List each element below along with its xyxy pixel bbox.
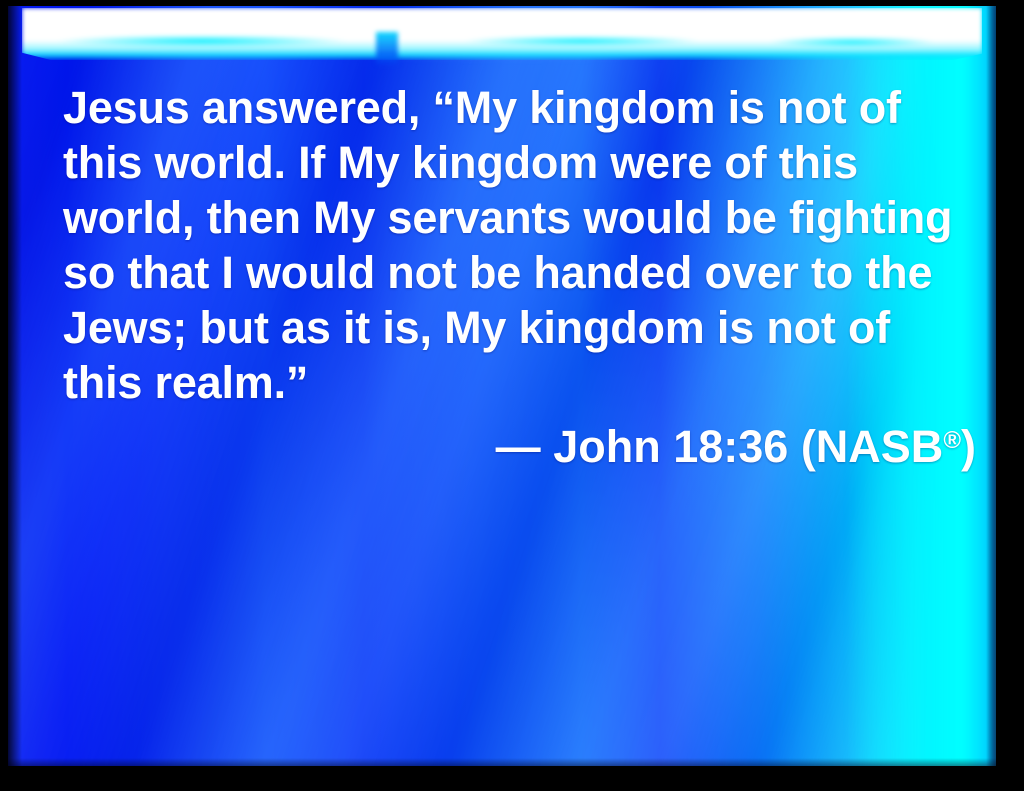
verse-line: Jews; but as it is, My kingdom is not of (63, 300, 975, 355)
verse-line: Jesus answered, “My kingdom is not of (63, 80, 975, 135)
verse-slide: Jesus answered, “My kingdom is not of th… (0, 0, 1024, 791)
verse-line: this world. If My kingdom were of this (63, 135, 975, 190)
slide-panel: Jesus answered, “My kingdom is not of th… (8, 6, 996, 766)
verse-line: world, then My servants would be fightin… (63, 190, 975, 245)
top-banner-glow (22, 8, 982, 60)
attribution-dash: — (496, 421, 541, 472)
attribution-book: John (553, 421, 661, 472)
top-banner-notch (376, 32, 398, 66)
verse-attribution: — John 18:36 (NASB®) (63, 413, 976, 474)
verse-text-block: Jesus answered, “My kingdom is not of th… (63, 80, 975, 410)
attribution-translation-open: (NASB (801, 421, 944, 472)
registered-trademark-icon: ® (943, 427, 961, 454)
attribution-chapter-verse: 18:36 (673, 421, 788, 472)
verse-line: so that I would not be handed over to th… (63, 245, 975, 300)
verse-line: this realm.” (63, 355, 975, 410)
attribution-translation-close: ) (961, 421, 976, 472)
